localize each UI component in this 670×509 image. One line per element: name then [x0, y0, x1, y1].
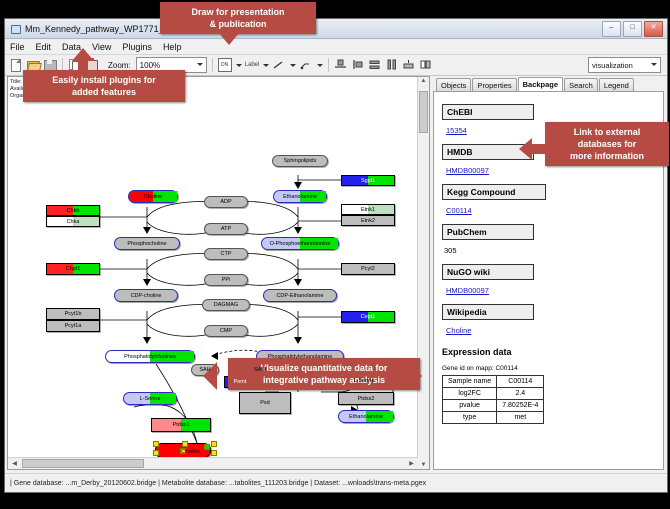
- status-bar: | Gene database: ...m_Derby_20120602.bri…: [5, 473, 667, 492]
- table-row: Sample name C00114: [443, 376, 544, 388]
- node-adp[interactable]: ADP: [204, 196, 248, 208]
- zoom-label: Zoom:: [108, 61, 131, 70]
- gene-label: Cept1: [361, 314, 376, 320]
- gene-label: Pcyt2: [361, 266, 375, 272]
- label-tool-label[interactable]: Label: [245, 62, 260, 68]
- row-value: 2.4: [497, 388, 544, 400]
- section-header-wikipedia: Wikipedia: [442, 304, 534, 320]
- node-label: L-Serine: [140, 396, 161, 402]
- node-ppi[interactable]: PPi: [204, 274, 248, 286]
- callout-plugins-pointer-stem: [78, 60, 88, 72]
- menu-item-file[interactable]: File: [9, 42, 26, 52]
- interaction-tool-icon[interactable]: [299, 58, 313, 72]
- new-file-icon[interactable]: [9, 58, 23, 72]
- node-label: Ethanolamine: [349, 414, 383, 420]
- node-cmp[interactable]: CMP: [204, 325, 248, 337]
- gene-box-pcyt2[interactable]: Pcyt2: [341, 263, 395, 275]
- callout-easily-install-plugins: Easily install plugins for added feature…: [23, 70, 185, 102]
- expression-data-header: Expression data: [442, 347, 655, 357]
- gene-label: Pcyt1a: [65, 323, 82, 329]
- node-choline-top[interactable]: Choline: [128, 190, 178, 203]
- node-label: Choline: [144, 194, 163, 200]
- visualization-chevron-down-icon[interactable]: [651, 63, 657, 66]
- minimize-button[interactable]: –: [602, 21, 621, 37]
- screenshot-root: Mm_Kennedy_pathway_WP1771_45176.gpml – □…: [0, 0, 670, 509]
- node-label: Phosphatidylcholines: [124, 354, 176, 360]
- section-header-pubchem: PubChem: [442, 224, 534, 240]
- canvas-horizontal-scrollbar[interactable]: ◀ ▶: [8, 457, 418, 469]
- node-atp[interactable]: ATP: [204, 223, 248, 235]
- node-dagmag[interactable]: DAGMAG: [202, 299, 250, 311]
- node-phosphocholine[interactable]: Phosphocholine: [114, 237, 180, 250]
- group-icon[interactable]: [419, 58, 433, 72]
- row-key: Sample name: [443, 376, 497, 388]
- gene-label: Ptdss2: [358, 396, 375, 402]
- row-value: C00114: [497, 376, 544, 388]
- tab-legend[interactable]: Legend: [599, 78, 634, 91]
- gene-box-pcyt1b[interactable]: Pcyt1b: [46, 308, 100, 320]
- node-label: CTP: [221, 251, 232, 257]
- hmdb-link[interactable]: HMDB00097: [446, 166, 489, 175]
- selection-handle-tr[interactable]: [211, 441, 217, 447]
- gene-label: Ptdss1: [173, 422, 190, 428]
- row-value: met: [497, 412, 544, 424]
- callout-links-pointer-stem: [531, 144, 547, 154]
- node-ctp[interactable]: CTP: [204, 248, 248, 260]
- callout-draw-for-publication: Draw for presentation & publication: [160, 2, 316, 34]
- callout-visualize-right-pointer-icon: [408, 362, 422, 390]
- scroll-right-icon[interactable]: ▶: [406, 460, 417, 467]
- node-label: Sphingolipids: [284, 158, 317, 164]
- gene-box-sgpl1[interactable]: Sgpl1: [341, 175, 395, 186]
- scroll-left-icon[interactable]: ◀: [9, 460, 20, 467]
- gene-label: Chpt1: [66, 266, 81, 272]
- node-label: CMP: [220, 328, 232, 334]
- side-panel-tabs[interactable]: Objects Properties Backpage Search Legen…: [433, 76, 665, 91]
- callout-line-3: more information: [551, 150, 663, 162]
- section-header-kegg: Kegg Compound: [442, 184, 546, 200]
- node-label: Choline: [180, 448, 186, 454]
- node-fill-green: [204, 444, 210, 450]
- gene-label: Etnk2: [361, 218, 375, 224]
- line-chevron-down-icon[interactable]: [290, 64, 296, 67]
- menu-item-plugins[interactable]: Plugins: [121, 42, 153, 52]
- menu-bar[interactable]: File Edit Data View Plugins Help: [5, 39, 667, 55]
- zoom-value: 100%: [140, 61, 160, 70]
- gene-box-etnk2[interactable]: Etnk2: [341, 215, 395, 226]
- callout-line-2: & publication: [166, 18, 310, 30]
- align-top-icon[interactable]: [334, 58, 348, 72]
- node-label: Phosphatidylethanolamine: [268, 354, 333, 360]
- tab-properties[interactable]: Properties: [472, 78, 516, 91]
- title-bar: Mm_Kennedy_pathway_WP1771_45176.gpml – □…: [5, 19, 667, 39]
- callout-line-1: Draw for presentation: [166, 6, 310, 18]
- tab-search[interactable]: Search: [564, 78, 598, 91]
- row-key: log2FC: [443, 388, 497, 400]
- node-label: SAH: [199, 367, 210, 373]
- stack-icon[interactable]: [402, 58, 416, 72]
- visualization-value: visualization: [592, 61, 633, 70]
- section-header-nugo: NuGO wiki: [442, 264, 534, 280]
- canvas-vertical-scrollbar[interactable]: ▲ ▼: [417, 77, 429, 469]
- callout-draw-pointer-stem: [224, 30, 234, 35]
- node-phosphatidylcholines[interactable]: Phosphatidylcholines: [105, 350, 195, 363]
- gene-box-cept1[interactable]: Cept1: [341, 311, 395, 323]
- callout-visualize-quantitative-data: Visualize quantitative data for integrat…: [228, 358, 420, 390]
- menu-item-view[interactable]: View: [91, 42, 112, 52]
- node-label: ADP: [220, 199, 231, 205]
- gene-label: Pemt: [234, 379, 247, 385]
- callout-link-external-databases: Link to external databases for more info…: [545, 122, 669, 166]
- gene-label: Psd: [260, 400, 269, 406]
- callout-line-1: Easily install plugins for: [29, 74, 179, 86]
- app-icon: [10, 23, 21, 34]
- interaction-chevron-down-icon[interactable]: [317, 64, 323, 67]
- chebi-link[interactable]: 15354: [446, 126, 467, 135]
- node-label: CDP-choline: [131, 293, 162, 299]
- callout-line-2: databases for: [551, 138, 663, 150]
- chevron-down-icon[interactable]: [197, 63, 203, 66]
- window-controls[interactable]: – □ ✕: [602, 21, 664, 37]
- line-tool-icon[interactable]: [272, 58, 286, 72]
- gene-box-ptdss2[interactable]: Ptdss2: [338, 392, 394, 405]
- node-label: PPi: [222, 277, 231, 283]
- node-label: Ethanolamine: [283, 194, 317, 200]
- distribute-horizontal-icon[interactable]: [385, 58, 399, 72]
- node-label: ATP: [221, 226, 231, 232]
- tab-objects[interactable]: Objects: [436, 78, 471, 91]
- node-label: O-Phosphoethanolamine: [270, 241, 331, 247]
- menu-item-edit[interactable]: Edit: [35, 42, 53, 52]
- toolbar-divider-3: [328, 58, 329, 72]
- gene-label: Chkb: [67, 208, 80, 214]
- scroll-down-icon[interactable]: ▼: [418, 462, 429, 468]
- node-ethanolamine-top[interactable]: Ethanolamine: [273, 190, 327, 203]
- align-left-icon[interactable]: [351, 58, 365, 72]
- selection-handle-ml[interactable]: [153, 450, 159, 456]
- gene-box-etnk1[interactable]: Etnk1: [341, 204, 395, 215]
- gene-id-line: Gene id on mapp: C00114: [442, 365, 655, 372]
- node-label: SAM: [254, 367, 266, 373]
- gene-box-ptdss1[interactable]: Ptdss1: [151, 418, 211, 432]
- table-row: pvalue 7.80252E-4: [443, 400, 544, 412]
- label-chevron-down-icon[interactable]: [263, 64, 269, 67]
- datanode-icon[interactable]: DN: [218, 58, 232, 72]
- horizontal-scroll-thumb[interactable]: [22, 459, 144, 468]
- node-cdp-choline[interactable]: CDP-choline: [114, 289, 178, 302]
- node-l-serine-left[interactable]: L-Serine: [123, 392, 177, 405]
- callout-line-1: Link to external: [551, 126, 663, 138]
- visualization-combobox[interactable]: visualization: [588, 57, 661, 73]
- gene-box-chkb[interactable]: Chkb: [46, 205, 100, 216]
- node-label: L-Serine: [354, 378, 375, 384]
- pathway-canvas[interactable]: Title: Availa Organi: [7, 76, 430, 470]
- selection-handle-mr[interactable]: [211, 450, 217, 456]
- toolbar-divider-2: [212, 58, 213, 72]
- gene-box-pcyt1a[interactable]: Pcyt1a: [46, 320, 100, 332]
- kegg-link[interactable]: C00114: [446, 206, 472, 215]
- section-header-chebi: ChEBI: [442, 104, 534, 120]
- gene-box-chka[interactable]: Chka: [46, 216, 100, 227]
- nugo-link[interactable]: HMDB00097: [446, 286, 489, 295]
- close-button[interactable]: ✕: [644, 21, 663, 37]
- node-label: Phosphocholine: [127, 241, 166, 247]
- pubchem-value: 305: [444, 246, 457, 255]
- table-row: type met: [443, 412, 544, 424]
- node-label: DAGMAG: [214, 302, 238, 308]
- node-ethanolamine-right[interactable]: Ethanolamine: [338, 410, 394, 423]
- status-text: | Gene database: ...m_Derby_20120602.bri…: [10, 480, 426, 487]
- gene-label: Chka: [67, 219, 80, 225]
- distribute-vertical-icon[interactable]: [368, 58, 382, 72]
- selection-handle-tl[interactable]: [153, 441, 159, 447]
- gene-label: Etnk1: [361, 207, 375, 213]
- row-value: 7.80252E-4: [497, 400, 544, 412]
- callout-line-2: integrative pathway analysis: [234, 374, 414, 386]
- maximize-button[interactable]: □: [623, 21, 642, 37]
- selection-handle-tm[interactable]: [182, 441, 188, 447]
- gene-box-psd[interactable]: Psd: [239, 392, 291, 414]
- callout-line-2: added features: [29, 86, 179, 98]
- node-o-phosphoethanolamine[interactable]: O-Phosphoethanolamine: [261, 237, 339, 250]
- node-choline-selected[interactable]: Choline: [155, 443, 211, 458]
- row-key: pvalue: [443, 400, 497, 412]
- tab-backpage[interactable]: Backpage: [518, 77, 563, 91]
- row-key: type: [443, 412, 497, 424]
- datanode-chevron-down-icon[interactable]: [236, 64, 242, 67]
- node-label: CDP-Ethanolamine: [276, 293, 323, 299]
- node-cdp-ethanolamine[interactable]: CDP-Ethanolamine: [263, 289, 337, 302]
- table-row: log2FC 2.4: [443, 388, 544, 400]
- gene-box-chpt1[interactable]: Chpt1: [46, 263, 100, 275]
- node-sphingolipids[interactable]: Sphingolipids: [272, 155, 328, 167]
- wikipedia-link[interactable]: Choline: [446, 326, 471, 335]
- expression-table: Sample name C00114 log2FC 2.4 pvalue 7.8…: [442, 375, 544, 424]
- menu-item-help[interactable]: Help: [162, 42, 183, 52]
- vertical-scroll-thumb[interactable]: [419, 91, 428, 133]
- gene-label: Pcyt1b: [65, 311, 82, 317]
- scroll-up-icon[interactable]: ▲: [418, 78, 429, 84]
- gene-label: Sgpl1: [361, 178, 375, 184]
